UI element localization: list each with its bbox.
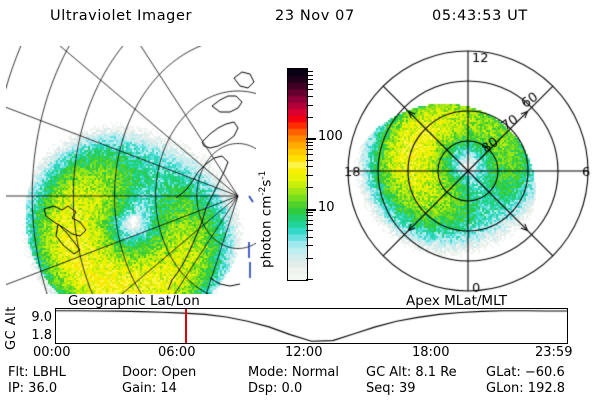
colorbar-unit-exp2: -1: [258, 171, 268, 180]
orbit-x-tick-0: 00:00: [33, 345, 70, 360]
instrument-title: Ultraviolet Imager: [50, 8, 192, 24]
status-door: Door: Open: [122, 365, 196, 380]
current-time-marker: [185, 309, 187, 343]
status-ip: IP: 36.0: [8, 381, 57, 396]
status-filter: Flt: LBHL: [8, 365, 66, 380]
status-dsp: Dsp: 0.0: [248, 381, 302, 396]
status-mode: Mode: Normal: [248, 365, 339, 380]
status-seq: Seq: 39: [366, 381, 416, 396]
apex-image-canvas[interactable]: [342, 46, 594, 296]
colorbar-unit-mid: s: [259, 180, 275, 187]
colorbar-unit-exp1: -2: [258, 187, 268, 196]
orbit-altitude-plot[interactable]: [55, 308, 568, 344]
orbit-y-tick-min: 1.8: [24, 328, 52, 343]
observation-time: 05:43:53 UT: [432, 8, 528, 24]
observation-date: 23 Nov 07: [275, 8, 355, 24]
geographic-projection-panel[interactable]: [6, 46, 256, 294]
status-glat: GLat: −60.6: [486, 365, 565, 380]
colorbar-label-10: 10: [318, 200, 335, 215]
status-gc-alt: GC Alt: 8.1 Re: [366, 365, 457, 380]
status-glon: GLon: 192.8: [486, 381, 565, 396]
orbit-x-tick-1: 06:00: [158, 345, 195, 360]
apex-polar-panel[interactable]: [342, 46, 594, 296]
geographic-image-canvas[interactable]: [6, 46, 256, 294]
colorbar-label-100: 100: [318, 129, 343, 144]
orbit-x-tick-2: 12:00: [285, 345, 322, 360]
header-bar: Ultraviolet Imager 23 Nov 07 05:43:53 UT: [0, 8, 600, 30]
apex-panel-caption: Apex MLat/MLT: [406, 293, 507, 309]
colorbar-unit-main: photon cm: [259, 196, 275, 268]
orbit-y-tick-max: 9.0: [24, 310, 52, 325]
orbit-x-tick-4: 23:59: [535, 345, 572, 360]
orbit-track-canvas: [56, 309, 567, 343]
orbit-x-tick-3: 18:00: [412, 345, 449, 360]
geographic-panel-caption: Geographic Lat/Lon: [68, 293, 200, 309]
status-gain: Gain: 14: [122, 381, 177, 396]
